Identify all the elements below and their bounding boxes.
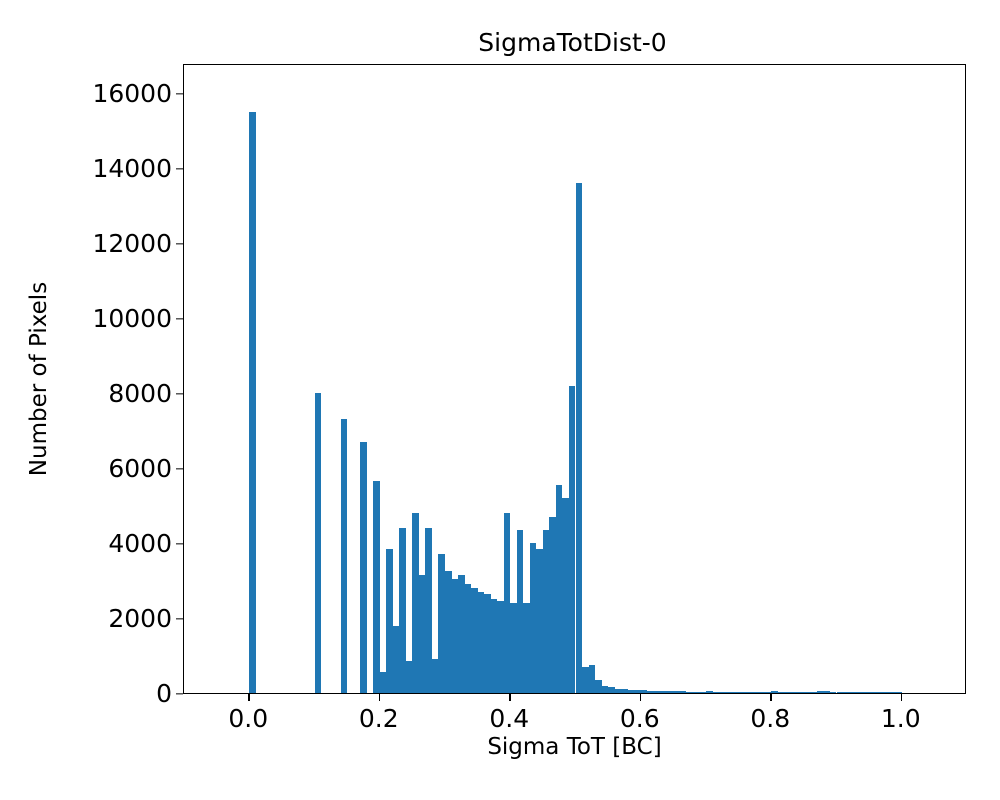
x-tick-mark [770, 694, 771, 701]
histogram-bar [582, 667, 589, 693]
histogram-bar [569, 386, 576, 694]
x-tick-mark [379, 694, 380, 701]
histogram-bar [726, 692, 733, 693]
x-tick-label: 0.4 [489, 704, 529, 734]
histogram-bar [562, 498, 569, 693]
histogram-bar [556, 485, 563, 693]
page-title: SigmaTotDist-0 [0, 28, 1000, 58]
y-tick-mark [176, 393, 183, 394]
histogram-bar [478, 592, 485, 693]
y-tick-mark [176, 318, 183, 319]
histogram-bar [693, 692, 700, 693]
y-tick-mark [176, 543, 183, 544]
histogram-bar [823, 691, 830, 693]
x-tick-mark [509, 694, 510, 701]
histogram-bar [491, 599, 498, 693]
histogram-bar [425, 528, 432, 693]
histogram-bar [628, 690, 635, 693]
histogram-bar [621, 689, 628, 693]
histogram-bar [647, 691, 654, 693]
x-tick-label: 0.8 [750, 704, 790, 734]
histogram-bar [341, 419, 348, 693]
histogram-bar [895, 692, 902, 693]
histogram-bar [438, 554, 445, 693]
histogram-bar [889, 692, 896, 693]
x-tick-mark [901, 694, 902, 701]
histogram-bar [869, 692, 876, 693]
histogram-bar [530, 543, 537, 693]
plot-area [183, 64, 966, 694]
histogram-bar [432, 659, 439, 693]
histogram-bar [517, 530, 524, 693]
histogram-bars [184, 65, 965, 693]
histogram-bar [856, 692, 863, 693]
histogram-bar [608, 687, 615, 693]
histogram-bar [249, 112, 256, 693]
x-tick-mark [640, 694, 641, 701]
x-tick-label: 0.2 [359, 704, 399, 734]
y-tick-mark [176, 243, 183, 244]
histogram-bar [315, 393, 322, 693]
histogram-figure: SigmaTotDist-0 Number of Pixels 02000400… [0, 0, 1000, 800]
y-tick-mark [176, 468, 183, 469]
histogram-bar [373, 481, 380, 693]
histogram-bar [660, 691, 667, 693]
histogram-bar [465, 584, 472, 693]
histogram-bar [791, 692, 798, 693]
histogram-bar [882, 692, 889, 693]
histogram-bar [360, 442, 367, 693]
histogram-bar [804, 692, 811, 693]
histogram-bar [752, 692, 759, 693]
histogram-bar [758, 692, 765, 693]
histogram-bar [595, 680, 602, 693]
y-tick-mark [176, 93, 183, 94]
x-tick-label: 0.0 [228, 704, 268, 734]
histogram-bar [739, 692, 746, 693]
x-axis-label: Sigma ToT [BC] [183, 733, 966, 761]
histogram-bar [412, 513, 419, 693]
y-tick-mark [176, 693, 183, 694]
histogram-bar [699, 692, 706, 693]
y-tick-mark [176, 168, 183, 169]
x-tick-mark [248, 694, 249, 701]
histogram-bar [713, 692, 720, 693]
histogram-bar [504, 513, 511, 693]
y-tick-mark [176, 618, 183, 619]
histogram-bar [576, 183, 583, 693]
histogram-bar [765, 692, 772, 693]
histogram-bar [686, 692, 693, 694]
y-tick-marks [0, 64, 183, 694]
histogram-bar [830, 692, 837, 693]
histogram-bar [843, 692, 850, 693]
histogram-bar [778, 692, 785, 694]
histogram-bar [634, 690, 641, 693]
histogram-bar [386, 549, 393, 693]
histogram-bar [673, 691, 680, 693]
histogram-bar [452, 579, 459, 693]
histogram-bar [536, 549, 543, 693]
histogram-bar [497, 601, 504, 693]
histogram-bar [817, 691, 824, 693]
x-tick-label: 1.0 [881, 704, 921, 734]
x-tick-label: 0.6 [620, 704, 660, 734]
histogram-bar [399, 528, 406, 693]
